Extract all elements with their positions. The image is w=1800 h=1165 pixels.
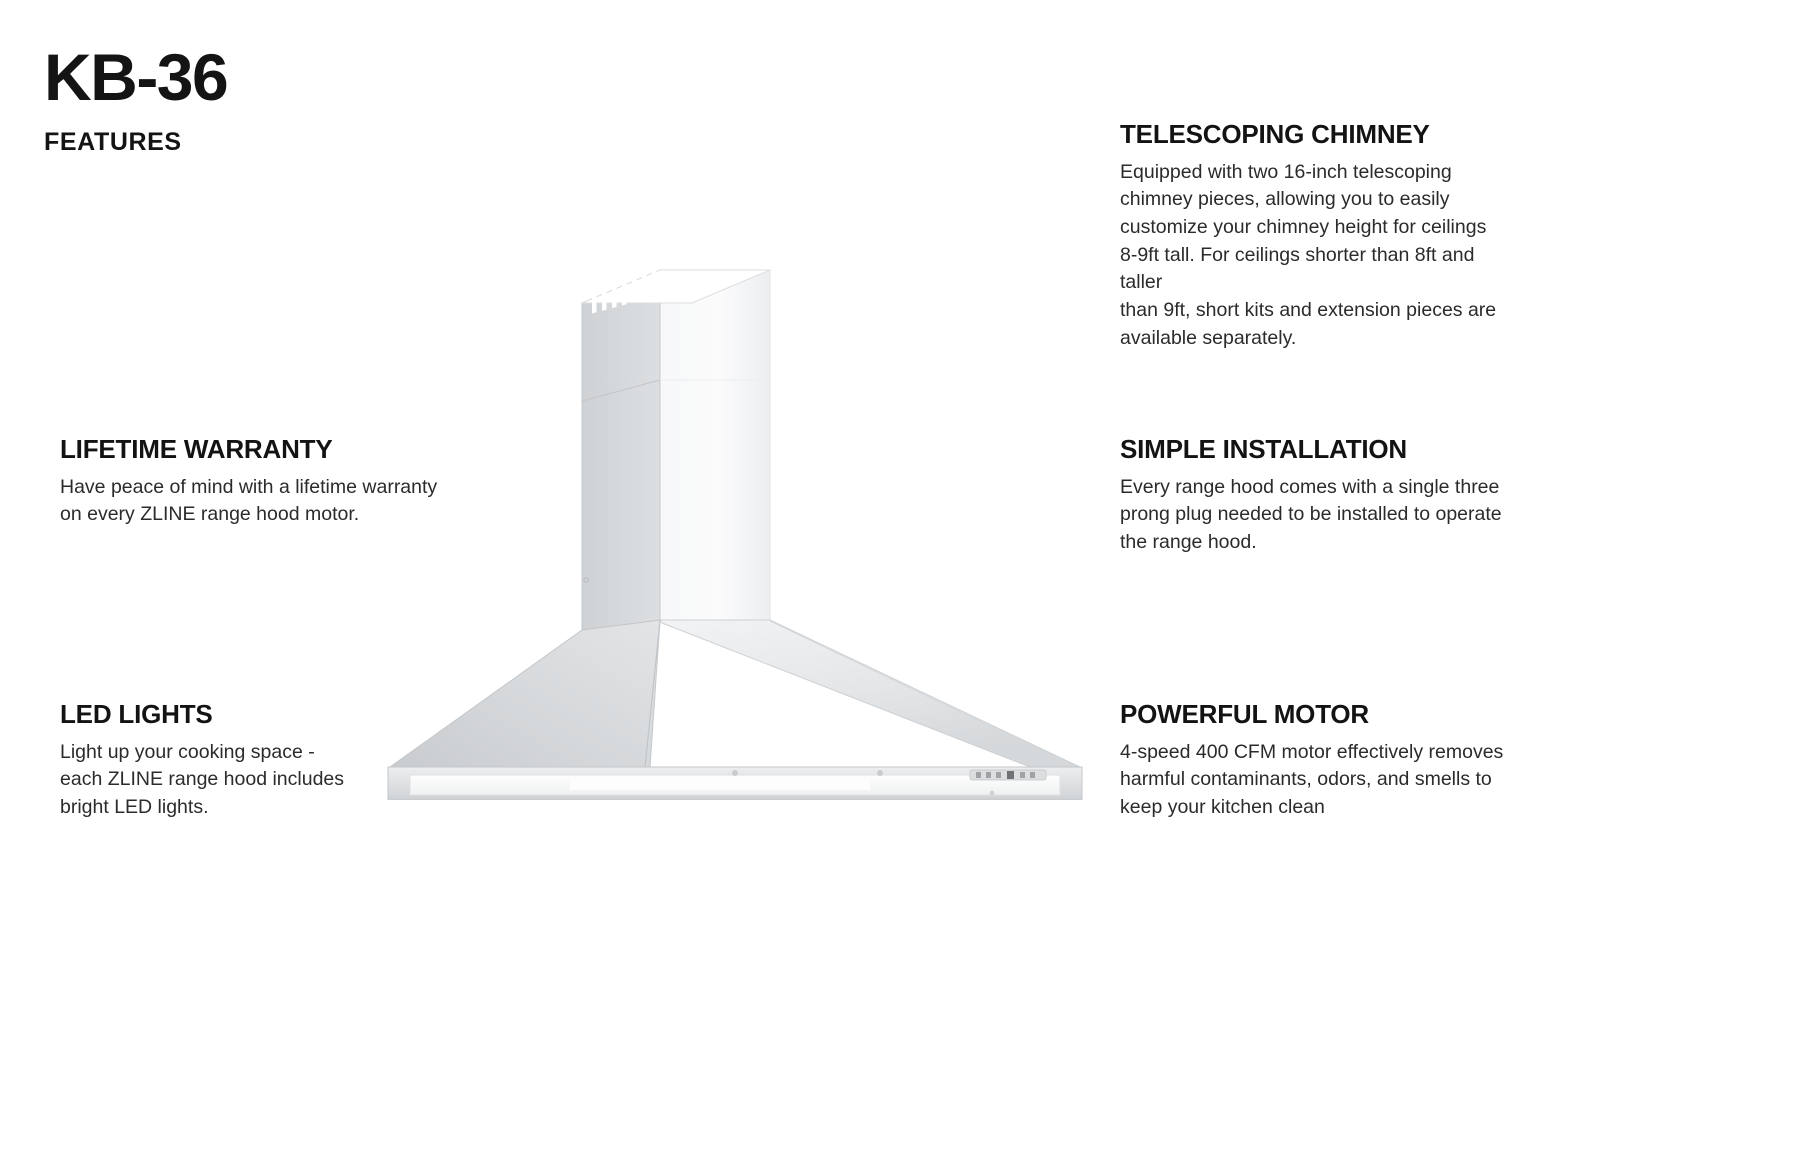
feature-heading-led-lights: LED LIGHTS (60, 700, 400, 729)
feature-led-lights: LED LIGHTS Light up your cooking space -… (60, 700, 400, 822)
bottom-bezel (388, 767, 1082, 800)
feature-heading-telescoping-chimney: TELESCOPING CHIMNEY (1120, 120, 1520, 149)
feature-heading-simple-installation: SIMPLE INSTALLATION (1120, 435, 1520, 464)
page-title: KB-36 (44, 44, 464, 110)
feature-body-lifetime-warranty: Have peace of mind with a lifetime warra… (60, 474, 460, 529)
feature-body-led-lights: Light up your cooking space - each ZLINE… (60, 739, 400, 822)
feature-body-telescoping-chimney: Equipped with two 16-inch telescoping ch… (1120, 159, 1520, 353)
feature-heading-lifetime-warranty: LIFETIME WARRANTY (60, 435, 460, 464)
push-button-control-panel[interactable] (970, 770, 1046, 780)
feature-heading-powerful-motor: POWERFUL MOTOR (1120, 700, 1520, 729)
feature-body-simple-installation: Every range hood comes with a single thr… (1120, 474, 1520, 557)
feature-simple-installation: SIMPLE INSTALLATION Every range hood com… (1120, 435, 1520, 557)
feature-body-powerful-motor: 4-speed 400 CFM motor effectively remove… (1120, 739, 1520, 822)
feature-powerful-motor: POWERFUL MOTOR 4-speed 400 CFM motor eff… (1120, 700, 1520, 822)
pyramid-canopy (390, 620, 1080, 767)
page-subtitle: FEATURES (44, 130, 464, 155)
feature-telescoping-chimney: TELESCOPING CHIMNEY Equipped with two 16… (1120, 120, 1520, 352)
product-image-range-hood (370, 255, 1090, 800)
title-block: KB-36 FEATURES (44, 44, 464, 155)
telescoping-chimney (582, 255, 770, 630)
feature-lifetime-warranty: LIFETIME WARRANTY Have peace of mind wit… (60, 435, 460, 529)
